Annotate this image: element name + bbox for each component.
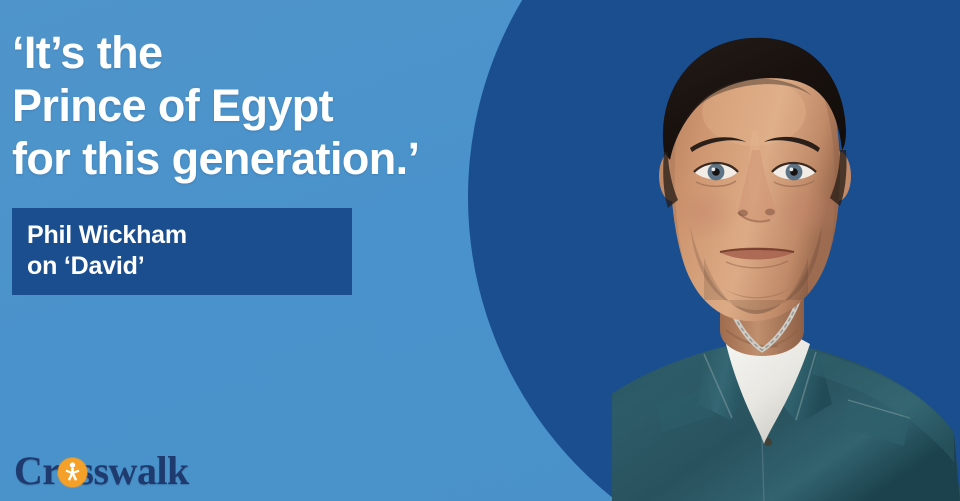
attribution-speaker: Phil Wickham <box>27 220 352 251</box>
logo-prefix: Cr <box>14 448 59 493</box>
quote-card: ‘It’s the Prince of Egypt for this gener… <box>0 0 960 501</box>
headline-line-3: for this generation.’ <box>12 132 612 185</box>
headline-line-1: ‘It’s the <box>12 26 612 79</box>
headline-line-2: Prince of Egypt <box>12 79 612 132</box>
head <box>662 38 848 322</box>
crosswalk-logo[interactable]: Crosswalk <box>14 449 189 493</box>
walking-figure-icon <box>58 458 87 487</box>
headline-quote: ‘It’s the Prince of Egypt for this gener… <box>12 26 612 185</box>
logo-wordmark: Crosswalk <box>14 449 189 493</box>
attribution-box: Phil Wickham on ‘David’ <box>12 208 352 295</box>
portrait-image <box>612 0 960 501</box>
attribution-subject: on ‘David’ <box>27 251 352 282</box>
logo-suffix: sswalk <box>78 448 188 493</box>
